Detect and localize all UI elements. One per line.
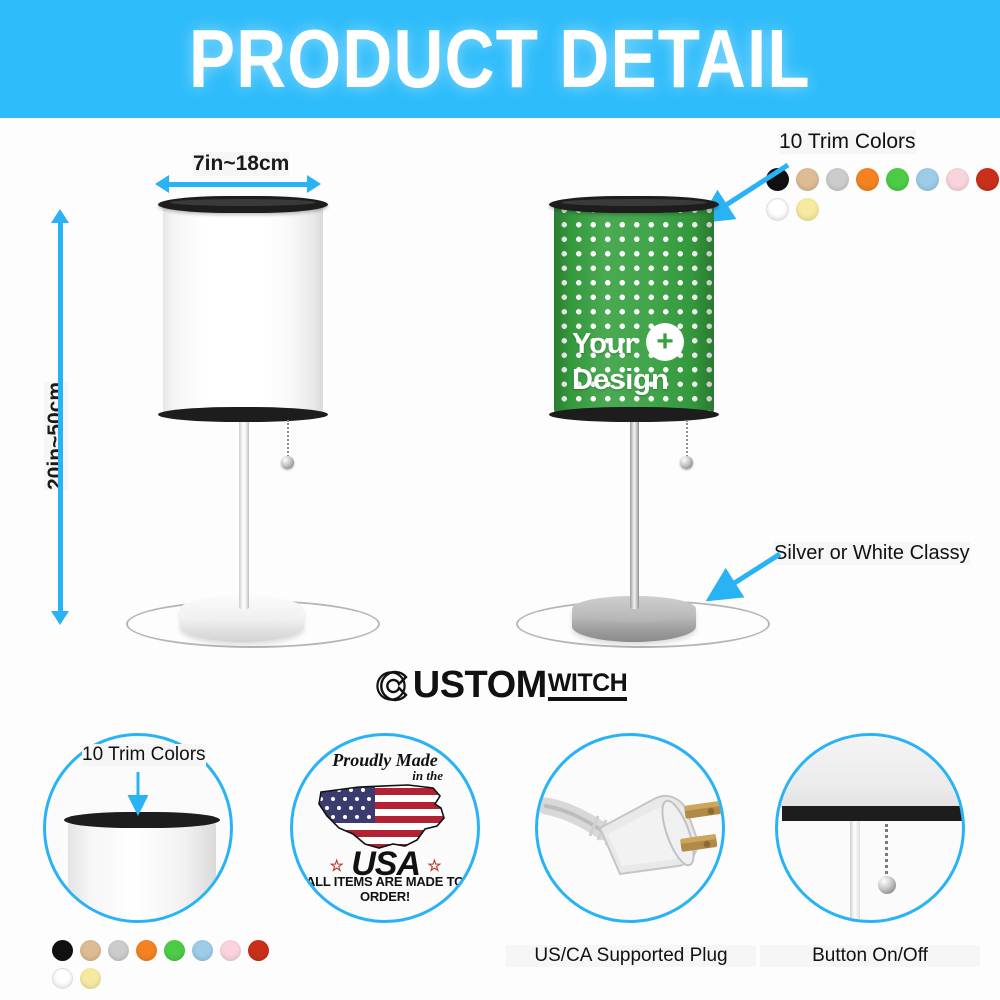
trim-color-swatches-top[interactable] — [766, 168, 1000, 221]
shade-trim-top-highlight-white — [170, 199, 316, 206]
usa-star-left-icon: ☆ — [329, 858, 342, 875]
trim-swatch-light-blue[interactable] — [916, 168, 939, 191]
panel-button-onoff — [775, 733, 965, 923]
shade-surface-white — [163, 200, 323, 418]
panel-plug — [535, 733, 725, 923]
logo-text-sub: WITCH — [548, 670, 627, 700]
shade-trim-top-green — [549, 196, 719, 213]
product-detail-infographic: PRODUCT DETAIL 10 Trim Colors 7in~18cm 2… — [0, 0, 1000, 1000]
panel-made-in-usa: Proudly Made in the — [290, 733, 480, 923]
trim-swatch-green[interactable] — [886, 168, 909, 191]
lamp-pole-silver — [630, 414, 639, 609]
shade-bottom-closeup — [775, 736, 965, 808]
trim-swatch-white[interactable] — [52, 968, 73, 989]
trim-swatch-pink[interactable] — [220, 940, 241, 961]
trim-swatch-red[interactable] — [976, 168, 999, 191]
usa-star-right-icon: ☆ — [427, 858, 440, 875]
height-dimension-label: 20in~50cm — [44, 382, 68, 490]
shade-trim-bottom-green — [549, 407, 719, 422]
pull-chain-closeup[interactable] — [885, 824, 888, 879]
button-onoff-caption: Button On/Off — [760, 945, 980, 967]
trim-swatch-gray[interactable] — [826, 168, 849, 191]
width-dimension-label: 7in~18cm — [193, 152, 289, 176]
usa-badge-tagline: ALL ITEMS ARE MADE TO ORDER! — [293, 874, 477, 904]
header-banner: PRODUCT DETAIL — [0, 0, 1000, 118]
page-title: PRODUCT DETAIL — [189, 11, 811, 106]
shade-trim-bottom-white — [158, 407, 328, 422]
pull-chain-ball-white[interactable] — [281, 456, 294, 469]
trim-swatch-gray[interactable] — [108, 940, 129, 961]
width-dimension-arrow — [168, 182, 308, 187]
trim-swatch-yellow[interactable] — [796, 198, 819, 221]
design-text-line1: Your — [572, 328, 636, 361]
power-plug-icon — [538, 736, 725, 923]
trim-swatch-orange[interactable] — [136, 940, 157, 961]
plug-caption: US/CA Supported Plug — [506, 945, 756, 967]
trim-swatch-tan[interactable] — [80, 940, 101, 961]
trim-swatch-black[interactable] — [52, 940, 73, 961]
logo-text-main: USTOM — [413, 664, 547, 707]
shade-trim-top-white — [158, 196, 328, 213]
trim-colors-down-arrow — [126, 770, 150, 820]
pull-chain-white[interactable] — [287, 420, 289, 460]
design-text-line2: Design — [572, 364, 669, 397]
brand-logo: USTOM WITCH — [0, 664, 1000, 707]
base-finish-pointer-arrow — [700, 548, 790, 608]
pull-chain-silver[interactable] — [686, 420, 688, 460]
trim-swatch-green[interactable] — [164, 940, 185, 961]
trim-swatch-orange[interactable] — [856, 168, 879, 191]
pull-chain-ball-closeup[interactable] — [878, 876, 896, 894]
shade-trim-closeup — [782, 806, 964, 821]
trim-swatch-pink[interactable] — [946, 168, 969, 191]
add-design-plus-icon[interactable]: + — [646, 323, 684, 361]
logo-c-monogram-icon — [373, 666, 413, 706]
lamp-shade-green: Your + Design — [554, 200, 714, 418]
base-finish-label: Silver or White Classy — [774, 542, 970, 565]
usa-badge-line1: Proudly Made — [293, 750, 477, 771]
shade-closeup-surface — [68, 820, 216, 923]
trim-swatch-light-blue[interactable] — [192, 940, 213, 961]
lamp-shade-white — [163, 200, 323, 418]
lamp-pole-white — [239, 414, 249, 609]
trim-color-swatches-bottom[interactable] — [52, 940, 292, 989]
trim-colors-label-detail: 10 Trim Colors — [82, 744, 206, 766]
trim-swatch-red[interactable] — [248, 940, 269, 961]
trim-swatch-tan[interactable] — [796, 168, 819, 191]
shade-trim-top-highlight-green — [561, 199, 707, 206]
trim-colors-label-top: 10 Trim Colors — [779, 130, 916, 154]
lamp-pole-closeup — [850, 821, 860, 923]
trim-swatch-yellow[interactable] — [80, 968, 101, 989]
pull-chain-ball-silver[interactable] — [680, 456, 693, 469]
height-dimension-arrow — [58, 222, 63, 612]
